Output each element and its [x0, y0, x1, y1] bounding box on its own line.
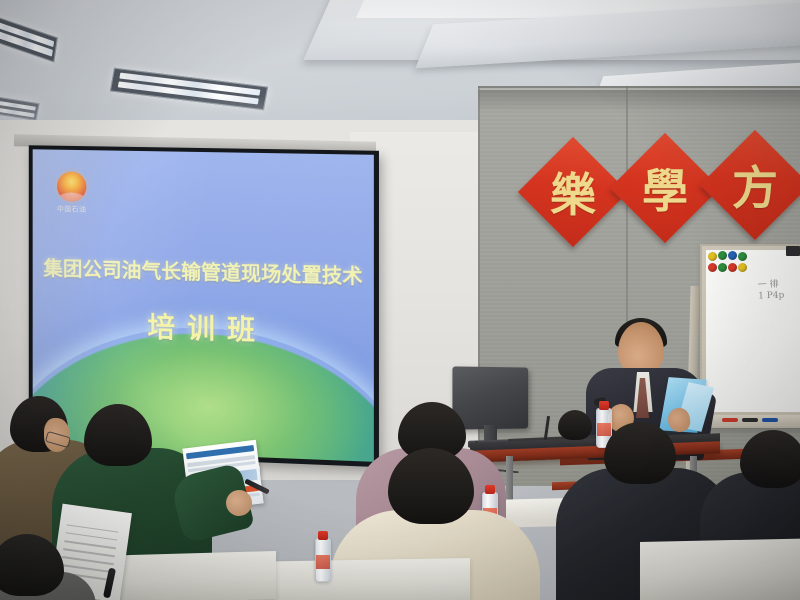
placard-glyph: 學	[626, 149, 704, 227]
magnet-icon[interactable]	[708, 252, 717, 261]
attendee-head	[604, 422, 676, 484]
marker-icon[interactable]	[762, 418, 778, 422]
magnet-icon[interactable]	[718, 263, 727, 272]
projection-screen: 中国石油 集团公司油气长输管道现场处置技术 培训班	[29, 145, 379, 467]
bottle-label	[316, 555, 330, 569]
audience-desk	[640, 538, 800, 600]
attendee-head	[558, 410, 592, 440]
bottle-cap	[318, 531, 328, 540]
water-bottle	[315, 538, 331, 582]
placard-glyph: 方	[716, 146, 794, 224]
bottle-cap	[485, 485, 495, 494]
whiteboard-surface[interactable]: 一 徘 1 P4p	[706, 250, 800, 412]
projected-slide: 中国石油 集团公司油气长输管道现场处置技术 培训班	[33, 149, 374, 462]
magnet-icon[interactable]	[728, 251, 737, 260]
magnet-icon[interactable]	[738, 252, 747, 261]
binder-clip-icon	[786, 246, 800, 256]
bottle-cap	[599, 401, 609, 410]
stone-wall-seam	[478, 88, 800, 90]
magnet-icon[interactable]	[728, 263, 737, 272]
magnet-icon[interactable]	[718, 251, 727, 260]
placard-glyph: 樂	[534, 153, 612, 231]
whiteboard-marker-tray	[704, 415, 800, 425]
conference-room-photo: 樂 學 方 一 徘 1 P4p 中国石油	[0, 0, 800, 600]
magnet-icon[interactable]	[738, 263, 747, 272]
ceiling-light-icon	[0, 16, 58, 63]
marker-icon[interactable]	[742, 418, 758, 422]
desktop-monitor	[452, 366, 528, 429]
whiteboard-handwriting: 一 徘 1 P4p	[758, 280, 785, 303]
attendee-head	[740, 430, 800, 488]
marker-icon[interactable]	[722, 418, 738, 422]
wall-placard: 樂	[518, 137, 628, 247]
magnet-icon[interactable]	[708, 263, 717, 272]
bottle-label	[597, 423, 611, 436]
